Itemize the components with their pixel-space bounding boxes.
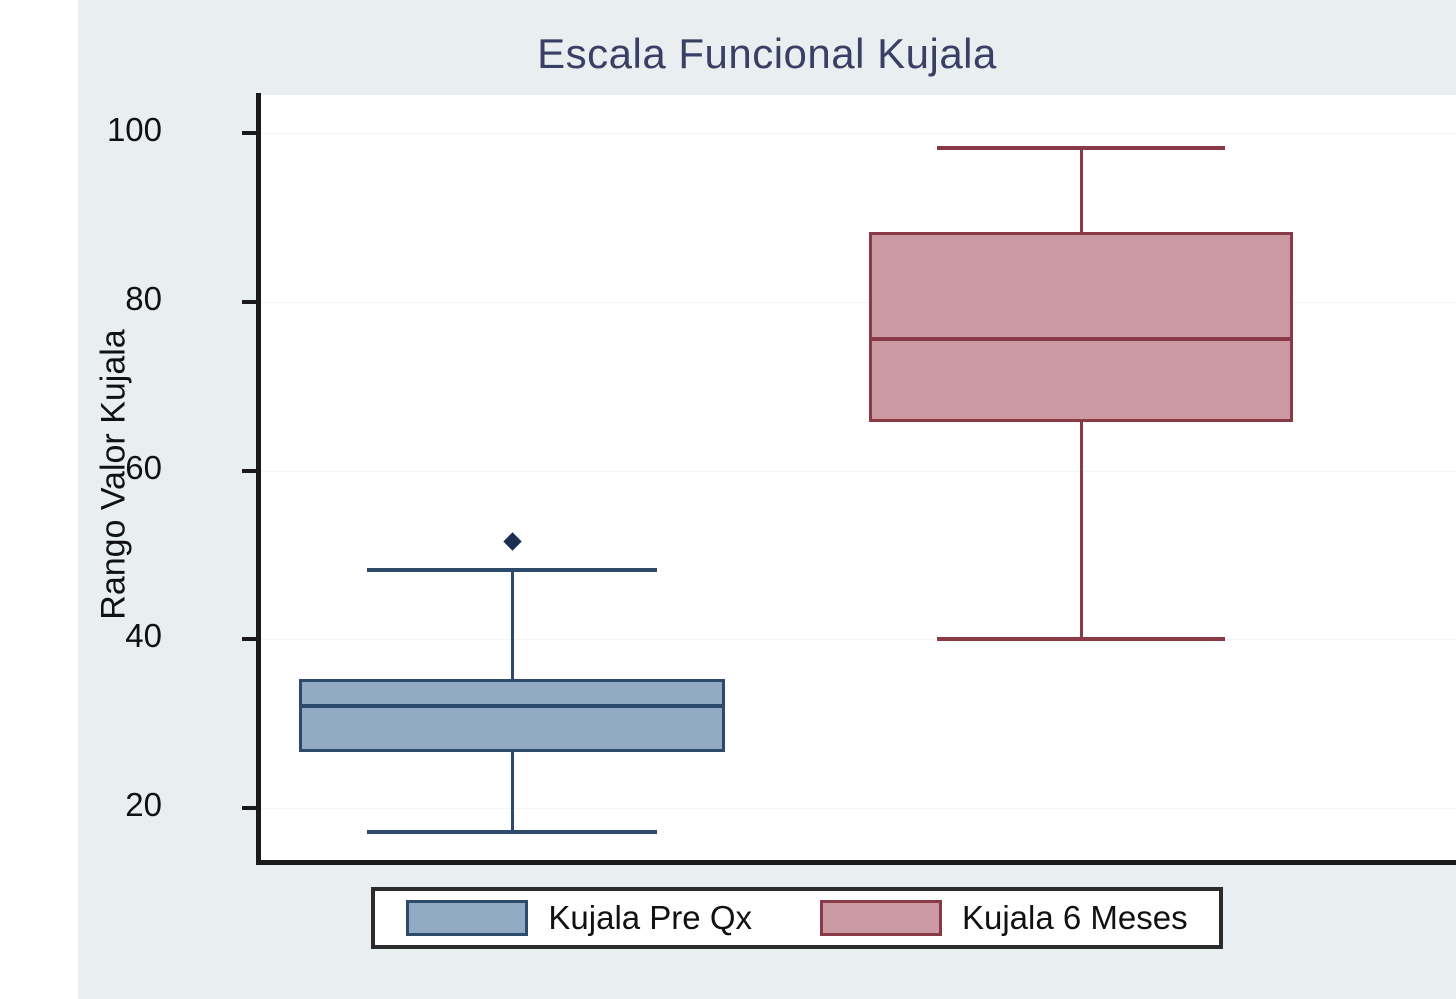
y-tick-mark <box>242 469 258 473</box>
y-axis-line <box>256 93 261 865</box>
whisker-cap-lower-kujala-pre-qx <box>367 830 657 834</box>
whisker-cap-lower-kujala-6-meses <box>937 637 1225 641</box>
median-line-kujala-6-meses <box>869 337 1293 341</box>
y-tick-label: 80 <box>42 280 162 318</box>
gridline <box>260 471 1456 472</box>
box-kujala-pre-qx <box>299 679 725 752</box>
legend-item-kujala-6-meses[interactable]: Kujala 6 Meses <box>820 899 1188 937</box>
whisker-stem-lower-kujala-6-meses <box>1080 422 1083 639</box>
x-axis-line <box>256 860 1456 865</box>
box-kujala-6-meses <box>869 232 1293 423</box>
median-line-kujala-pre-qx <box>299 704 725 708</box>
y-tick-label: 60 <box>42 449 162 487</box>
y-tick-label: 40 <box>42 617 162 655</box>
page-title: Escala Funcional Kujala <box>78 30 1456 78</box>
whisker-stem-upper-kujala-6-meses <box>1080 148 1083 232</box>
gridline <box>260 808 1456 809</box>
y-tick-mark <box>242 300 258 304</box>
legend-swatch-blue <box>406 900 528 936</box>
chart-legend: Kujala Pre Qx Kujala 6 Meses <box>371 887 1223 949</box>
gridline <box>260 133 1456 134</box>
y-tick-mark <box>242 131 258 135</box>
legend-label-kujala-6-meses: Kujala 6 Meses <box>962 899 1188 937</box>
legend-item-kujala-pre-qx[interactable]: Kujala Pre Qx <box>406 899 752 937</box>
legend-label-kujala-pre-qx: Kujala Pre Qx <box>548 899 752 937</box>
whisker-cap-upper-kujala-6-meses <box>937 146 1225 150</box>
y-tick-mark <box>242 637 258 641</box>
whisker-stem-upper-kujala-pre-qx <box>511 570 514 679</box>
legend-swatch-red <box>820 900 942 936</box>
y-tick-mark <box>242 806 258 810</box>
whisker-stem-lower-kujala-pre-qx <box>511 752 514 831</box>
y-tick-label: 100 <box>42 111 162 149</box>
gridline <box>260 639 1456 640</box>
whisker-cap-upper-kujala-pre-qx <box>367 568 657 572</box>
figure-canvas: Escala Funcional Kujala Rango Valor Kuja… <box>78 0 1456 999</box>
y-tick-label: 20 <box>42 786 162 824</box>
